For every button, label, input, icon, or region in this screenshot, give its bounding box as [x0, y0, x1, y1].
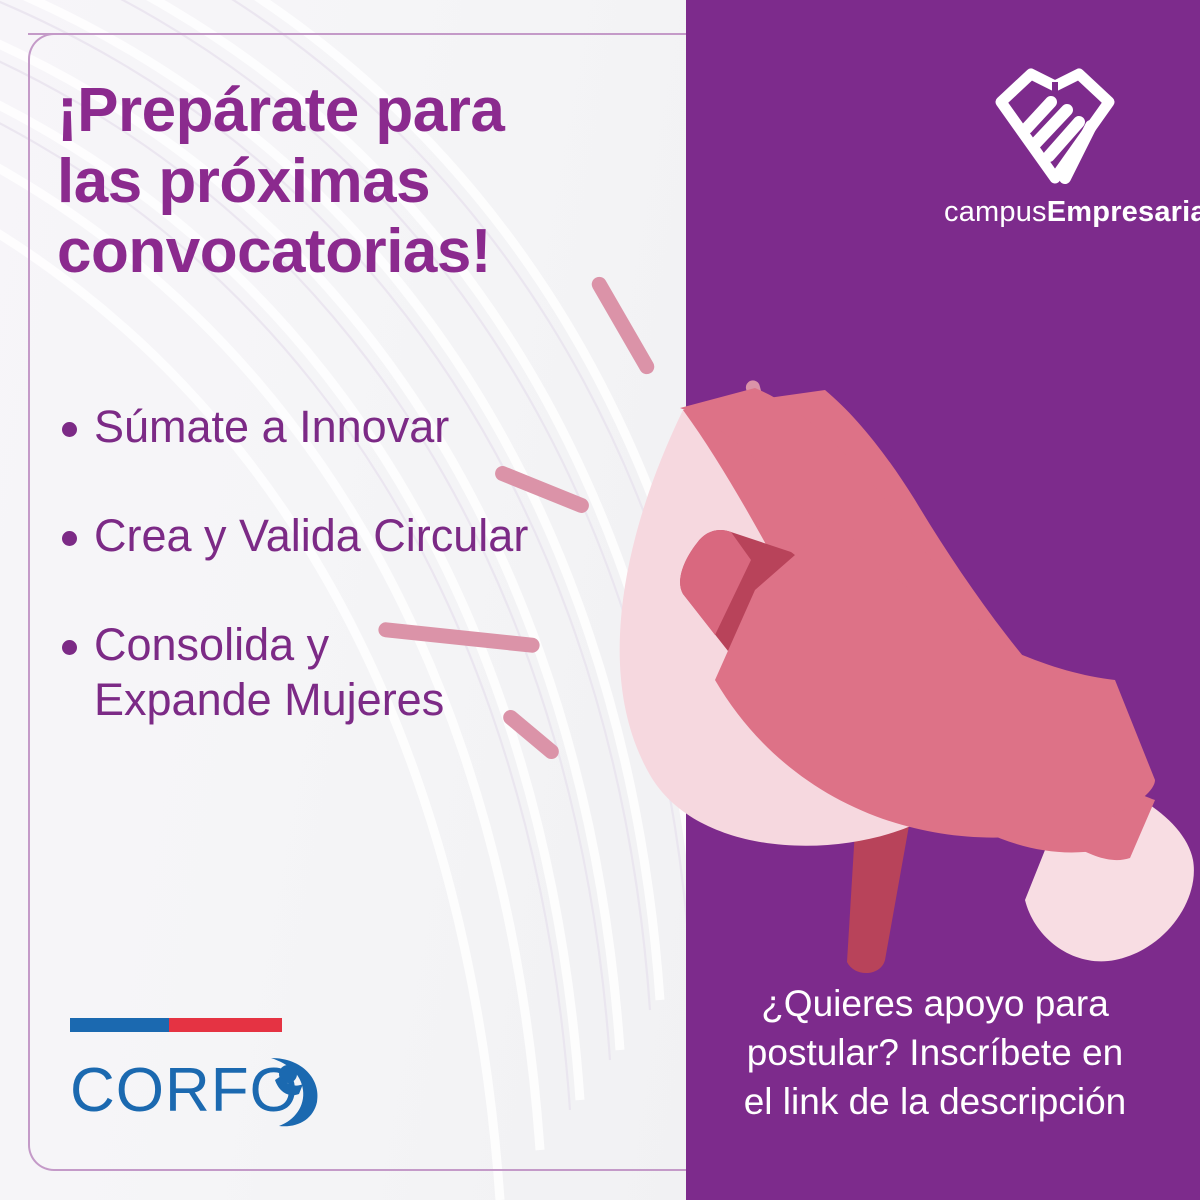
list-item-label: Crea y Valida Circular	[94, 509, 528, 564]
list-item-label: Consolida y Expande Mujeres	[94, 618, 444, 728]
handshake-heart-icon	[991, 66, 1119, 190]
brand-name-light: campus	[944, 196, 1047, 228]
brand-name-bold: Empresaria	[1047, 196, 1200, 228]
panel-top-border	[28, 33, 686, 35]
call-to-action-text: ¿Quieres apoyo para postular? Inscríbete…	[700, 980, 1170, 1126]
poster-canvas: ¡Prepárate para las próximas convocatori…	[0, 0, 1200, 1200]
page-title: ¡Prepárate para las próximas convocatori…	[57, 76, 637, 288]
brand-name: campusEmpresaria	[944, 196, 1166, 229]
chile-flag-bars	[70, 1018, 282, 1032]
flag-bar-blue	[70, 1018, 169, 1032]
bullet-dot-icon	[62, 531, 77, 546]
bullet-dot-icon	[62, 422, 77, 437]
flag-bar-red	[169, 1018, 282, 1032]
corfo-wordmark: CORFO	[70, 1054, 320, 1128]
bullet-dot-icon	[62, 640, 77, 655]
campus-empresaria-logo: campusEmpresaria	[944, 66, 1166, 229]
megaphone-illustration	[555, 380, 1200, 980]
megaphone-handle	[847, 820, 910, 973]
person-raising-arms-icon	[255, 1054, 325, 1128]
list-item-label: Súmate a Innovar	[94, 400, 449, 455]
corfo-logo: CORFO	[70, 1018, 330, 1128]
